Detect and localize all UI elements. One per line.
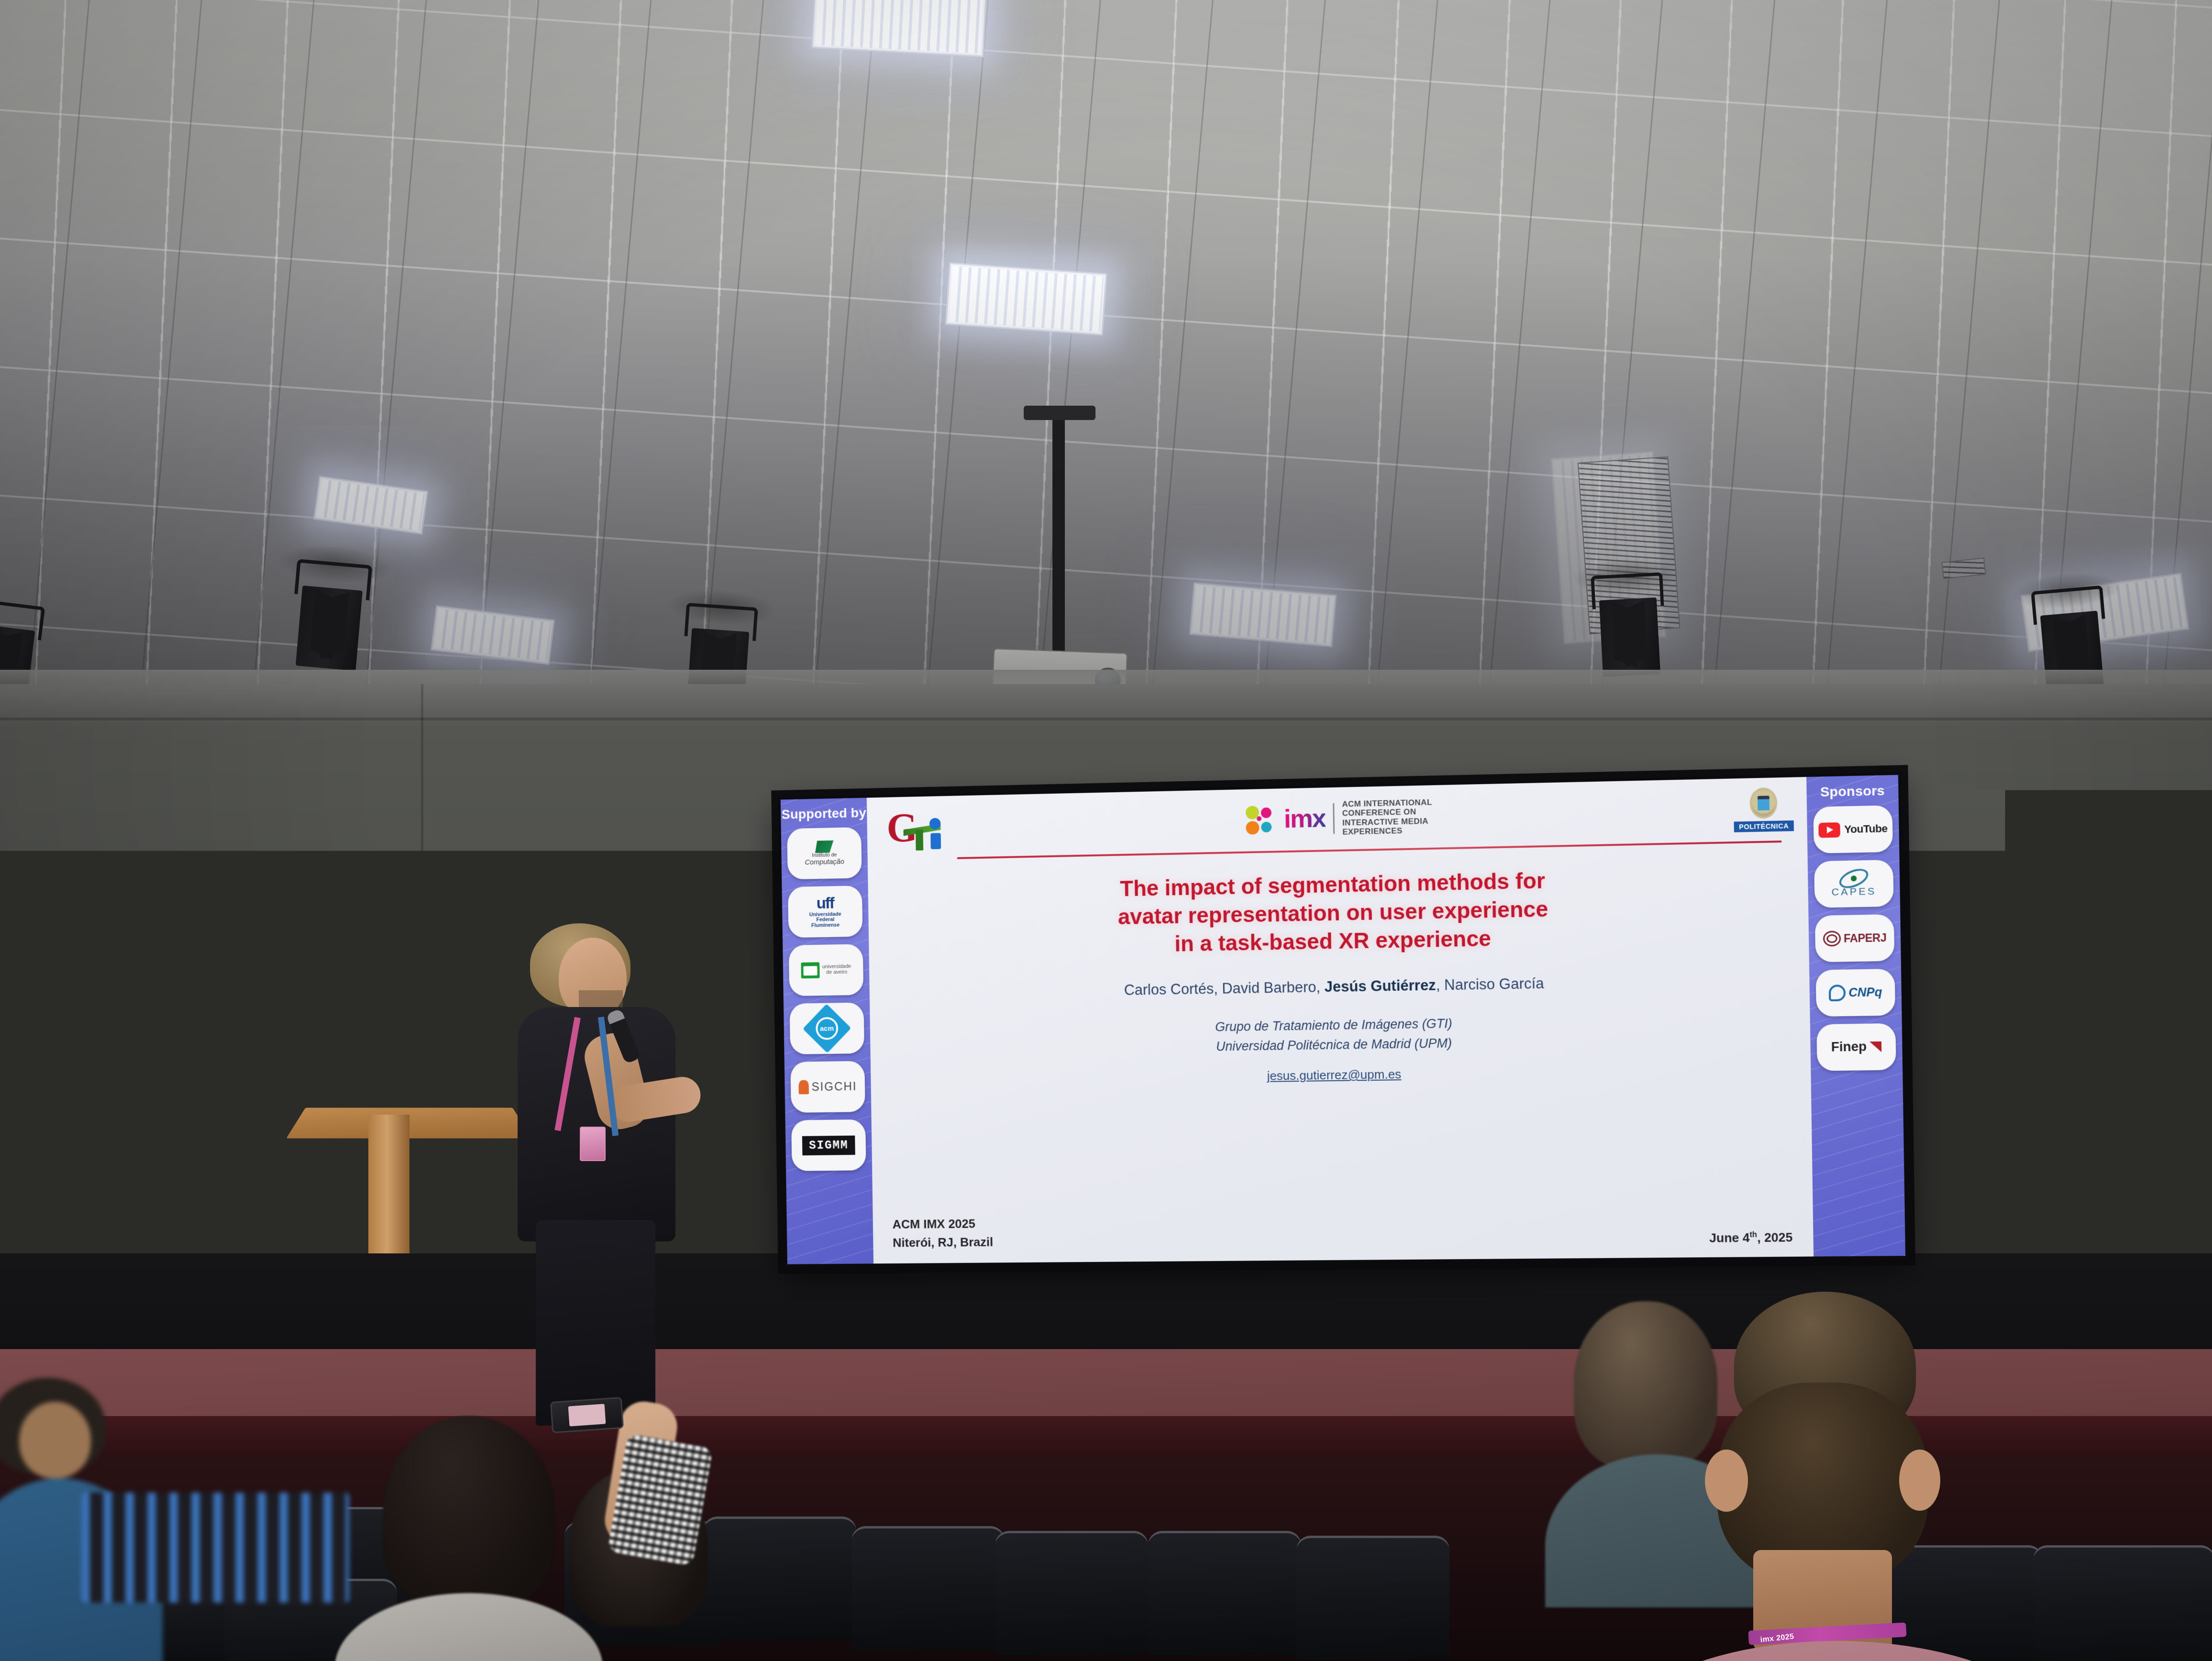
- sponsors-logo-list: YouTube CAPES FAPERJ: [1807, 803, 1902, 1073]
- slide-body: G: [867, 777, 1814, 1263]
- capes-mark: CAPES: [1831, 886, 1876, 898]
- date-main: June 4: [1709, 1230, 1750, 1245]
- presenter-badge: [580, 1127, 606, 1161]
- presenter: [507, 923, 698, 1435]
- imx-subtitle-line: INTERACTIVE MEDIA: [1342, 816, 1433, 827]
- aveiro-book-mark: [801, 962, 819, 978]
- gti-logo: G: [886, 806, 947, 852]
- upm-politecnica-logo: POLITÉCNICA: [1741, 787, 1787, 832]
- contact-email: jesus.gutierrez@upm.es: [890, 1062, 1790, 1088]
- antenna: [234, 1067, 238, 1096]
- chip-line-2: Computação: [805, 858, 844, 867]
- audience-head: [2090, 1359, 2191, 1469]
- faperj-mark: FAPERJ: [1844, 931, 1887, 944]
- sigchi-logo: SIGCHI: [790, 1061, 865, 1113]
- acm-diamond: acm: [803, 1004, 851, 1053]
- smartphone: [550, 1397, 624, 1433]
- cnpq-logo: CNPq: [1816, 969, 1896, 1017]
- imx-logo-lockup: imx ACM INTERNATIONAL CONFERENCE ON INTE…: [1246, 797, 1433, 839]
- acm-logo: acm: [790, 1002, 864, 1054]
- projection-screen: Supported by Instituto de Computação uff…: [778, 772, 1909, 1267]
- sigchi-figure-icon: [798, 1080, 809, 1095]
- cnpq-glyph-icon: [1829, 985, 1846, 1001]
- supported-by-heading: Supported by: [781, 798, 867, 827]
- footer-date: June 4th, 2025: [1709, 1230, 1793, 1246]
- instituto-de-computacao-logo: Instituto de Computação: [787, 827, 862, 879]
- author-highlighted: Jesús Gutiérrez: [1324, 976, 1436, 995]
- acm-mark: acm: [816, 1017, 838, 1040]
- upm-seal-icon: [1749, 787, 1777, 819]
- uff-logo: uff Universidade Federal Fluminense: [788, 886, 863, 938]
- cnpq-mark: CNPq: [1848, 986, 1882, 999]
- audience-shoulders: [2062, 1459, 2212, 1583]
- uff-line-3: Fluminense: [811, 923, 840, 929]
- faperj-spiral-icon: [1823, 930, 1841, 946]
- supported-by-logo-list: Instituto de Computação uff Universidade…: [781, 825, 873, 1173]
- footer-location: Niterói, RJ, Brazil: [893, 1233, 994, 1252]
- audio-mixing-desk: [81, 1493, 349, 1603]
- email-link[interactable]: jesus.gutierrez@upm.es: [1267, 1067, 1401, 1083]
- foreground-attendee: imx 2025: [1650, 1292, 2024, 1661]
- audience-hair: [383, 1416, 555, 1607]
- receiver-status-led: [242, 1098, 259, 1108]
- gti-green-stem: [916, 830, 923, 851]
- youtube-logo: YouTube: [1813, 805, 1893, 853]
- auditorium-photo: Supported by Instituto de Computação uff…: [0, 0, 2212, 1661]
- auditorium-seat: [1296, 1536, 1449, 1660]
- authors-after: , Narciso García: [1436, 974, 1544, 993]
- finep-mark: Finep: [1831, 1040, 1867, 1055]
- auditorium-seat: [852, 1526, 1005, 1650]
- author-list: Carlos Cortés, David Barbero, Jesús Guti…: [889, 971, 1789, 1002]
- upm-tag-label: POLITÉCNICA: [1734, 820, 1794, 832]
- slide-footer: ACM IMX 2025 Niterói, RJ, Brazil June 4t…: [892, 1207, 1792, 1256]
- technician-head: [19, 1402, 91, 1478]
- slide-title: The impact of segmentation methods for a…: [887, 862, 1788, 963]
- sponsors-heading: Sponsors: [1806, 775, 1899, 805]
- capes-logo: CAPES: [1814, 860, 1894, 908]
- gti-blue-stem: [930, 833, 941, 849]
- aveiro-line-2: de aveiro: [822, 970, 852, 976]
- finep-logo: Finep: [1816, 1023, 1896, 1071]
- authors-before: Carlos Cortés, David Barbero,: [1124, 978, 1324, 998]
- footer-conference-block: ACM IMX 2025 Niterói, RJ, Brazil: [892, 1214, 993, 1252]
- presentation-slide: Supported by Instituto de Computação uff…: [781, 775, 1905, 1264]
- auditorium-seat: [995, 1531, 1148, 1655]
- wall-power-socket: [2071, 1225, 2098, 1247]
- supported-by-rail: Supported by Instituto de Computação uff…: [781, 798, 874, 1264]
- sigchi-mark: SIGCHI: [811, 1080, 857, 1094]
- footer-conference-name: ACM IMX 2025: [892, 1214, 993, 1233]
- auditorium-seat: [1148, 1531, 1301, 1655]
- imx-subtitle-line: EXPERIENCES: [1342, 826, 1433, 837]
- audience-member: [2071, 1359, 2212, 1560]
- ceiling: [0, 0, 2212, 732]
- youtube-mark: YouTube: [1844, 822, 1888, 836]
- date-rest: , 2025: [1757, 1230, 1793, 1245]
- presenter-legs: [536, 1220, 655, 1426]
- attendee-ear: [1705, 1450, 1748, 1512]
- attendee-ear: [1899, 1450, 1940, 1511]
- sigmm-logo: SIGMM: [791, 1119, 866, 1171]
- wall-seam: [0, 718, 2212, 720]
- uff-mark: uff: [816, 895, 834, 912]
- date-ordinal-suffix: th: [1749, 1230, 1757, 1239]
- universidade-de-aveiro-logo: universidade de aveiro: [789, 944, 863, 996]
- imx-subtitle: ACM INTERNATIONAL CONFERENCE ON INTERACT…: [1342, 797, 1432, 837]
- sigmm-mark: SIGMM: [802, 1135, 855, 1155]
- imx-wordmark: imx: [1284, 806, 1326, 831]
- affiliation: Grupo de Tratamiento de Imágenes (GTI) U…: [889, 1008, 1790, 1062]
- faperj-logo: FAPERJ: [1815, 914, 1895, 962]
- slide-header: G: [886, 787, 1787, 858]
- ceiling-shadow-gradient: [0, 0, 2212, 732]
- imx-divider: [1333, 803, 1335, 834]
- antenna: [258, 1068, 262, 1096]
- imx-dot-cluster-icon: [1246, 805, 1277, 834]
- sponsors-rail: Sponsors YouTube CAPES: [1806, 775, 1905, 1257]
- wall-power-socket: [2021, 1225, 2048, 1247]
- finep-arrow-icon: [1869, 1041, 1881, 1052]
- youtube-play-icon: [1819, 822, 1841, 837]
